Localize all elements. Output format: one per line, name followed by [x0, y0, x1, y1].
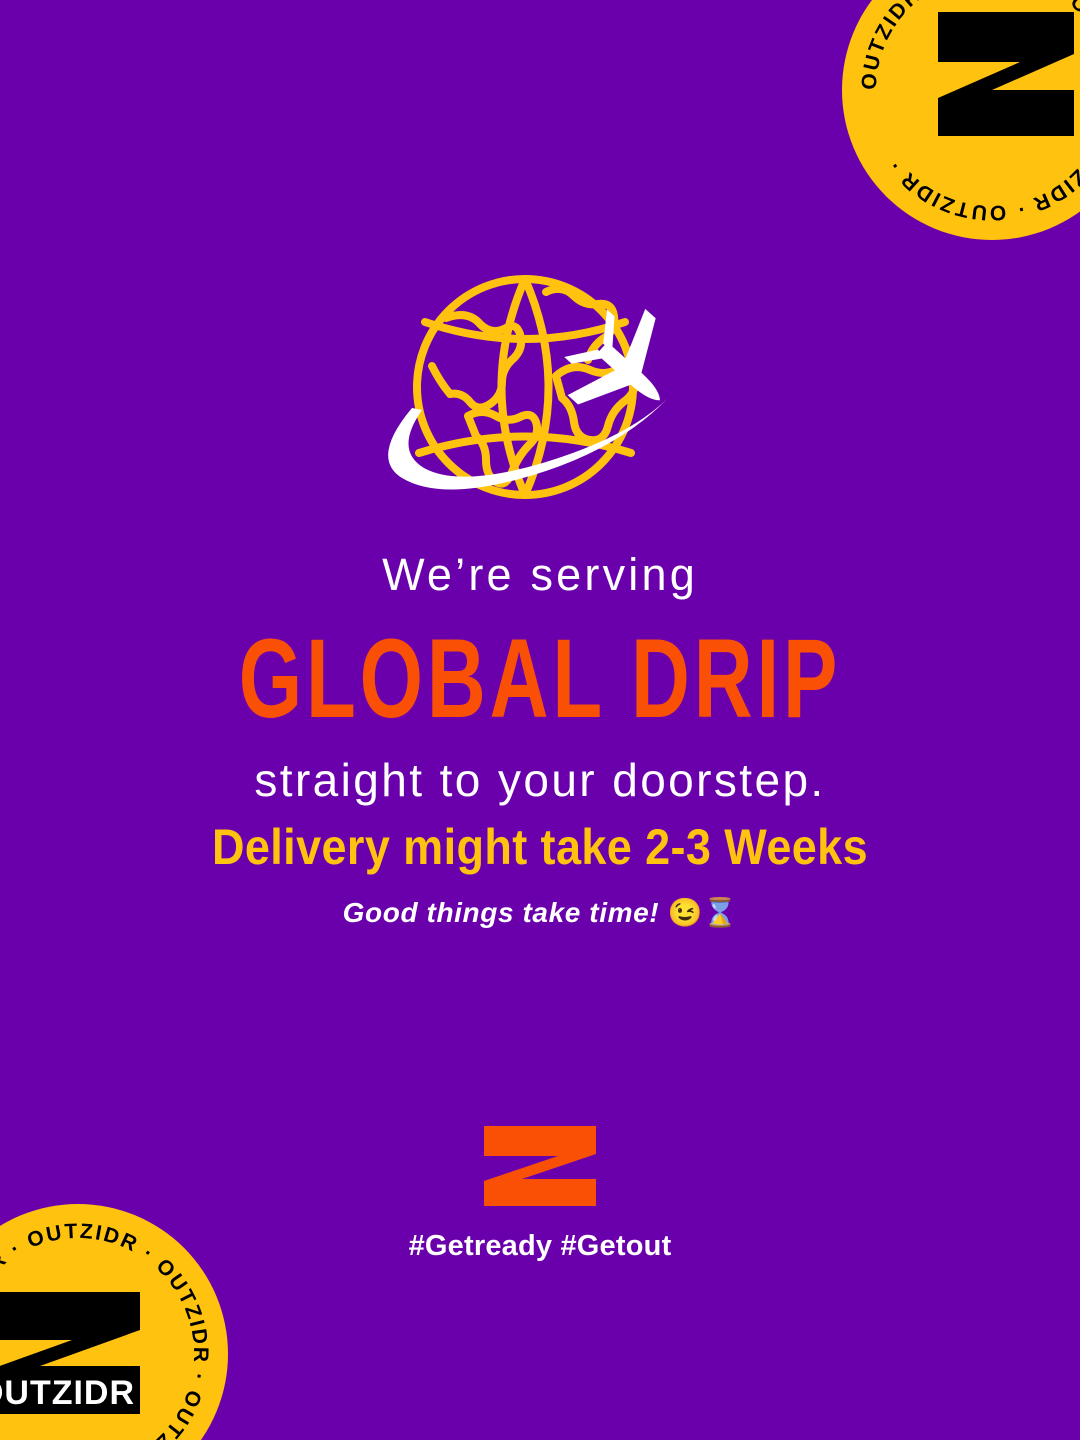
globe-airplane-illustration — [350, 270, 730, 520]
headline-line-1: We’re serving — [0, 548, 1080, 601]
brand-badge-bottom-left: OUTZIDR · OUTZIDR · OUTZIDR · OUTZIDR · … — [0, 1204, 228, 1440]
delivery-subnote: Good things take time! 😉⌛ — [0, 896, 1080, 929]
brand-z-logo — [478, 1124, 602, 1208]
badge-center-zmark-top-right — [938, 12, 1074, 136]
delivery-notice-block: Delivery might take 2-3 Weeks Good thing… — [0, 820, 1080, 929]
promo-poster: OUTZIDR · OUTZIDR · OUTZIDR · OUTZIDR · … — [0, 0, 1080, 1440]
delivery-notice: Delivery might take 2-3 Weeks — [0, 817, 1080, 877]
badge-center-zmark-bottom-left: OUTZIDR — [0, 1292, 140, 1414]
brand-badge-top-right: OUTZIDR · OUTZIDR · OUTZIDR · OUTZIDR · … — [842, 0, 1080, 240]
wink-hourglass-emoji: 😉⌛ — [668, 897, 738, 928]
headline-block: We’re serving GLOBAL DRIP straight to yo… — [0, 548, 1080, 807]
delivery-subnote-text: Good things take time! — [343, 897, 660, 928]
badge-center-wordmark: OUTZIDR — [0, 1374, 135, 1412]
headline-line-2: GLOBAL DRIP — [16, 615, 1064, 741]
headline-line-3: straight to your doorstep. — [0, 753, 1080, 807]
